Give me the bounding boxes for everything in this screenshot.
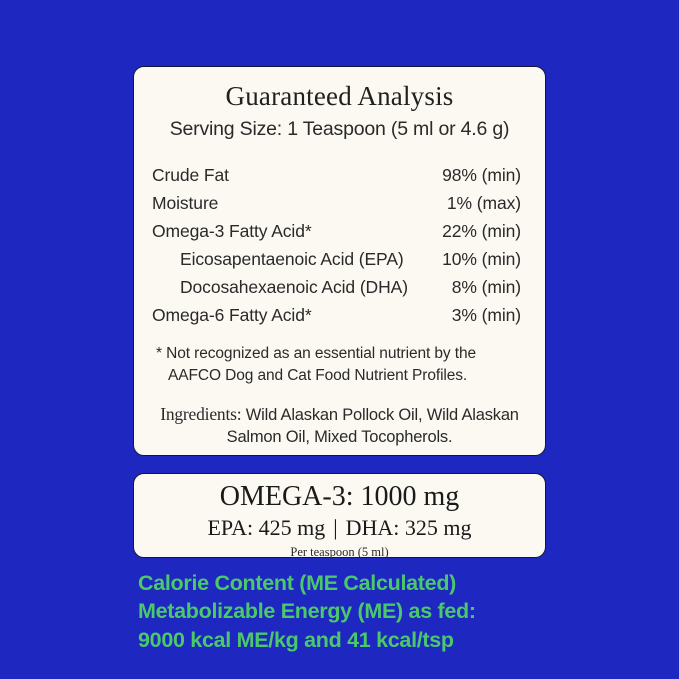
epa-dha-divider: |: [325, 515, 345, 540]
analysis-row-dha: Docosahexaenoic Acid (DHA) 8% (min): [152, 273, 527, 301]
analysis-row-label: Eicosapentaenoic Acid (EPA): [152, 249, 404, 270]
analysis-row-label: Omega-3 Fatty Acid*: [152, 221, 312, 242]
analysis-row-moisture: Moisture 1% (max): [152, 189, 527, 217]
analysis-rows: Crude Fat 98% (min) Moisture 1% (max) Om…: [152, 161, 527, 329]
guaranteed-analysis-title: Guaranteed Analysis: [152, 81, 527, 111]
serving-size-text: Serving Size: 1 Teaspoon (5 ml or 4.6 g): [152, 118, 527, 141]
footnote-line-2: AAFCO Dog and Cat Food Nutrient Profiles…: [156, 365, 527, 386]
analysis-row-label: Docosahexaenoic Acid (DHA): [152, 277, 408, 298]
per-teaspoon-note: Per teaspoon (5 ml): [148, 545, 531, 560]
kcal-values-line: 9000 kcal ME/kg and 41 kcal/tsp: [138, 626, 568, 654]
calorie-content-heading: Calorie Content (ME Calculated): [138, 569, 568, 597]
analysis-row-value: 3% (min): [452, 305, 527, 326]
analysis-row-label: Crude Fat: [152, 165, 229, 186]
analysis-row-value: 98% (min): [442, 165, 527, 186]
footnote-line-1: * Not recognized as an essential nutrien…: [156, 345, 476, 362]
calorie-content-block: Calorie Content (ME Calculated) Metaboli…: [138, 569, 568, 654]
label-page: Guaranteed Analysis Serving Size: 1 Teas…: [0, 0, 679, 679]
analysis-row-omega-6: Omega-6 Fatty Acid* 3% (min): [152, 301, 527, 329]
ingredients-text: Ingredients: Wild Alaskan Pollock Oil, W…: [152, 403, 527, 449]
analysis-row-crude-fat: Crude Fat 98% (min): [152, 161, 527, 189]
epa-dha-line: EPA: 425 mg|DHA: 325 mg: [148, 515, 531, 540]
analysis-row-epa: Eicosapentaenoic Acid (EPA) 10% (min): [152, 245, 527, 273]
guaranteed-analysis-card: Guaranteed Analysis Serving Size: 1 Teas…: [133, 66, 546, 456]
analysis-row-value: 1% (max): [447, 193, 527, 214]
analysis-row-label: Moisture: [152, 193, 218, 214]
omega-3-summary-card: OMEGA-3: 1000 mg EPA: 425 mg|DHA: 325 mg…: [133, 473, 546, 558]
analysis-row-value: 22% (min): [442, 221, 527, 242]
dha-amount: DHA: 325 mg: [346, 515, 472, 540]
analysis-row-value: 10% (min): [442, 249, 527, 270]
omega-3-headline: OMEGA-3: 1000 mg: [148, 482, 531, 513]
aafco-footnote: * Not recognized as an essential nutrien…: [152, 343, 527, 386]
epa-amount: EPA: 425 mg: [207, 515, 325, 540]
ingredients-heading: Ingredients:: [160, 404, 241, 424]
analysis-row-label: Omega-6 Fatty Acid*: [152, 305, 312, 326]
metabolizable-energy-line: Metabolizable Energy (ME) as fed:: [138, 597, 568, 625]
analysis-row-value: 8% (min): [452, 277, 527, 298]
ingredients-list: Wild Alaskan Pollock Oil, Wild Alaskan S…: [227, 406, 519, 446]
analysis-row-omega-3: Omega-3 Fatty Acid* 22% (min): [152, 217, 527, 245]
